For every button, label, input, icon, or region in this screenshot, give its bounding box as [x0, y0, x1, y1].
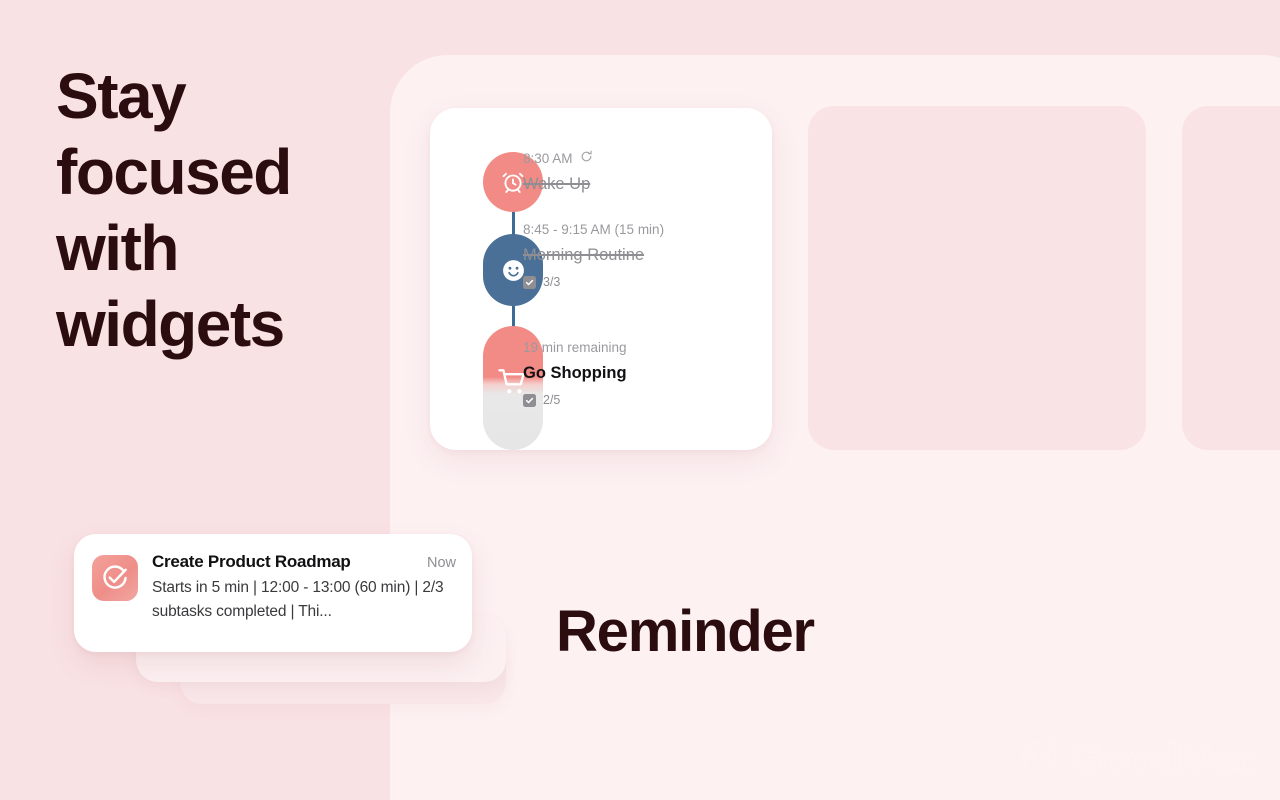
subtask-progress: 2/5	[523, 393, 758, 407]
repeat-icon	[580, 150, 593, 168]
timeline-task-row[interactable]: 8:45 - 9:15 AM (15 min) Morning Routine …	[523, 221, 758, 289]
background-stage: Stay focused with widgets Reminder	[0, 0, 1280, 800]
app-check-icon	[92, 555, 138, 601]
page-headline: Stay focused with widgets	[56, 58, 376, 362]
notification-stack: Create Product Roadmap Now Starts in 5 m…	[74, 534, 506, 710]
timeline-task-row[interactable]: 8:30 AM Wake Up	[523, 150, 758, 195]
task-meta: 8:45 - 9:15 AM (15 min)	[523, 221, 758, 239]
goodmac-logo: GoodMac	[1016, 734, 1258, 782]
subtask-progress: 3/3	[523, 275, 758, 289]
task-meta: 19 min remaining	[523, 339, 758, 357]
task-title[interactable]: Morning Routine	[523, 244, 758, 266]
checkbox-checked-icon[interactable]	[523, 276, 536, 289]
subtask-count: 2/5	[543, 393, 560, 407]
widget-placeholder-3[interactable]	[1182, 106, 1280, 450]
section-label-reminder: Reminder	[556, 598, 814, 666]
timeline-widget-card[interactable]: 8:30 AM Wake Up 8:45 - 9:15 AM (15 min) …	[430, 108, 772, 450]
task-meta: 8:30 AM	[523, 150, 758, 168]
notification-title: Create Product Roadmap	[152, 552, 351, 572]
task-time: 8:45 - 9:15 AM (15 min)	[523, 221, 664, 239]
task-title[interactable]: Wake Up	[523, 173, 758, 195]
checkbox-checked-icon[interactable]	[523, 394, 536, 407]
notification-header: Create Product Roadmap Now	[152, 552, 456, 572]
notification-body: Create Product Roadmap Now Starts in 5 m…	[152, 552, 456, 652]
goodmac-devil-icon	[1016, 735, 1062, 782]
subtask-count: 3/3	[543, 275, 560, 289]
notification-message: Starts in 5 min | 12:00 - 13:00 (60 min)…	[152, 576, 456, 624]
notification-timestamp: Now	[427, 555, 456, 571]
notification-card[interactable]: Create Product Roadmap Now Starts in 5 m…	[74, 534, 472, 652]
task-time: 19 min remaining	[523, 339, 627, 357]
goodmac-wordmark: GoodMac	[1070, 734, 1258, 782]
task-time: 8:30 AM	[523, 150, 573, 168]
task-title[interactable]: Go Shopping	[523, 362, 758, 384]
timeline-task-row[interactable]: 19 min remaining Go Shopping 2/5	[523, 339, 758, 407]
widget-placeholder-2[interactable]	[808, 106, 1146, 450]
